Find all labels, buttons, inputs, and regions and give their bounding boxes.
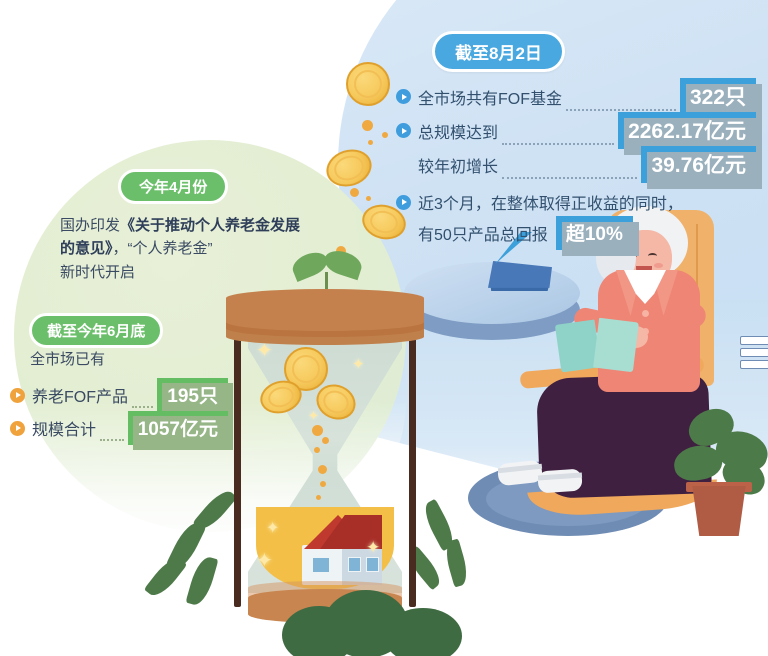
para-line1-prefix: 国办印发 [60, 217, 120, 234]
heading-pill-april: 今年4月份 [118, 169, 228, 204]
note-line-1: 近3个月，在整体取得正收益的同时， [396, 190, 683, 214]
play-bullet-icon [10, 388, 25, 403]
infographic-canvas: ✦ ✦ ✦ ✦ ✦ ✦ 截至8月2日 全市场共有FOF基金 322只 总规模达到… [0, 0, 768, 656]
market-subtitle: 全市场已有 [30, 348, 105, 371]
leader-dots [566, 109, 676, 111]
stat-label: 较年初增长 [418, 153, 498, 177]
hourglass-icon: ✦ ✦ ✦ ✦ ✦ ✦ [226, 289, 424, 629]
policy-paragraph: 国办印发《关于推动个人养老金发展 的意见》，“个人养老金” 新时代开启 [60, 214, 328, 284]
stat-value-badge: 2262.17亿元 [618, 112, 756, 149]
coin-dot-icon [366, 196, 371, 201]
note-line-2: 有50只产品总回报 超10% [418, 216, 633, 250]
stat-row-pension-fof: 养老FOF产品 195只 [10, 378, 228, 412]
coin-dot-icon [368, 140, 373, 145]
stat-value-badge: 195只 [157, 378, 228, 412]
stat-row-total-scale: 总规模达到 2262.17亿元 [396, 112, 756, 149]
bush-icon [282, 586, 462, 656]
play-bullet-icon [396, 195, 411, 210]
note-text: 有50只产品总回报 [418, 221, 548, 245]
plant-pot-icon [690, 486, 748, 536]
coin-dot-icon [350, 188, 359, 197]
stat-label: 养老FOF产品 [32, 383, 128, 407]
stat-value-badge: 39.76亿元 [641, 146, 756, 183]
para-line2-rest: ，“个人养老金” [113, 240, 213, 257]
stat-row-pension-scale: 规模合计 1057亿元 [10, 411, 228, 445]
stat-row-ytd-growth: 较年初增长 39.76亿元 [396, 146, 756, 183]
elderly-woman-reading-icon [466, 214, 768, 554]
book-icon [558, 318, 636, 372]
bullet-spacer [396, 157, 411, 172]
stat-label: 全市场共有FOF基金 [418, 85, 562, 109]
highlight-badge: 超10% [556, 216, 633, 250]
play-bullet-icon [396, 123, 411, 138]
leaf-icon [185, 554, 218, 608]
stat-value-badge: 322只 [680, 78, 756, 115]
play-bullet-icon [396, 89, 411, 104]
coin-dot-icon [362, 120, 373, 131]
stat-label: 规模合计 [32, 416, 96, 440]
leader-dots [100, 439, 124, 441]
heading-pill-august: 截至8月2日 [432, 31, 565, 72]
stat-label: 总规模达到 [418, 119, 498, 143]
leader-dots [502, 143, 614, 145]
leader-dots [132, 406, 153, 408]
para-line1-emphasis: 《关于推动个人养老金发展 [120, 217, 300, 234]
heading-pill-june: 截至今年6月底 [29, 313, 163, 348]
play-bullet-icon [10, 421, 25, 436]
para-line2-emphasis: 的意见》 [60, 240, 113, 257]
leader-dots [502, 177, 637, 179]
coin-icon [346, 62, 390, 106]
note-text: 近3个月，在整体取得正收益的同时， [418, 190, 683, 214]
stat-row-fof-count: 全市场共有FOF基金 322只 [396, 78, 756, 115]
leaf-icon [144, 553, 187, 601]
book-stack-icon [740, 336, 768, 372]
stat-value-badge: 1057亿元 [128, 411, 228, 445]
coin-dot-icon [382, 132, 388, 138]
para-line3: 新时代开启 [60, 264, 135, 281]
